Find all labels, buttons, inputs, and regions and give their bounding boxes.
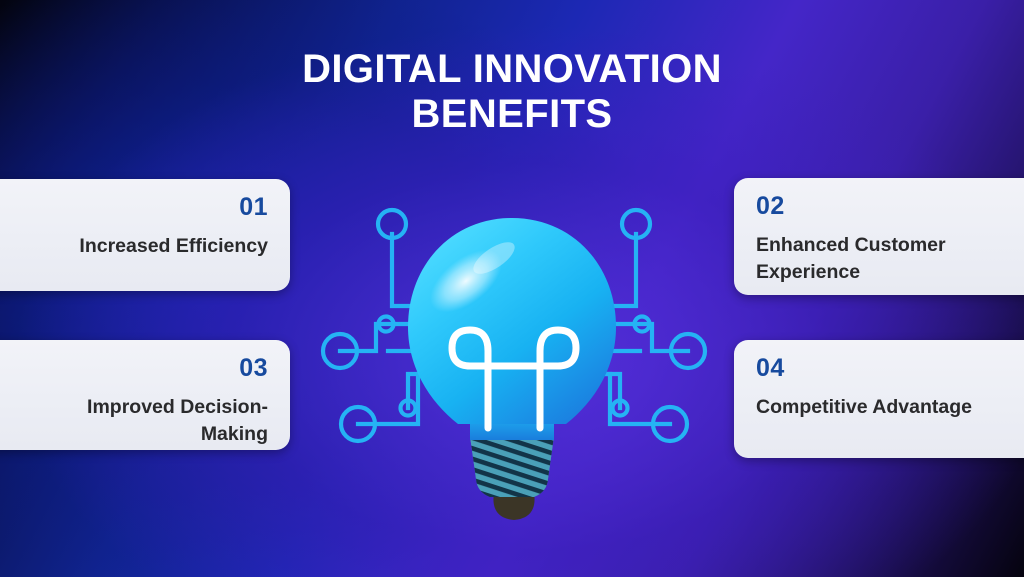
infographic-poster: DIGITAL INNOVATION BENEFITS	[0, 0, 1024, 577]
page-title-line-2: BENEFITS	[0, 92, 1024, 137]
benefit-card-01[interactable]: 01 Increased Efficiency	[0, 179, 290, 291]
benefit-card-03[interactable]: 03 Improved Decision-Making	[0, 340, 290, 450]
benefit-label-02: Enhanced Customer Experience	[756, 232, 996, 285]
benefit-label-04: Competitive Advantage	[756, 394, 972, 421]
benefit-number-04: 04	[756, 356, 785, 381]
page-title: DIGITAL INNOVATION BENEFITS	[0, 47, 1024, 137]
benefit-number-03: 03	[239, 356, 268, 381]
benefit-number-01: 01	[239, 195, 268, 220]
page-title-line-1: DIGITAL INNOVATION	[0, 47, 1024, 92]
lightbulb-circuit-illustration	[318, 196, 710, 526]
benefit-number-02: 02	[756, 194, 785, 219]
benefit-label-01: Increased Efficiency	[79, 233, 268, 260]
benefit-card-04[interactable]: 04 Competitive Advantage	[734, 340, 1024, 458]
benefit-label-03: Improved Decision-Making	[28, 394, 268, 447]
benefit-card-02[interactable]: 02 Enhanced Customer Experience	[734, 178, 1024, 295]
